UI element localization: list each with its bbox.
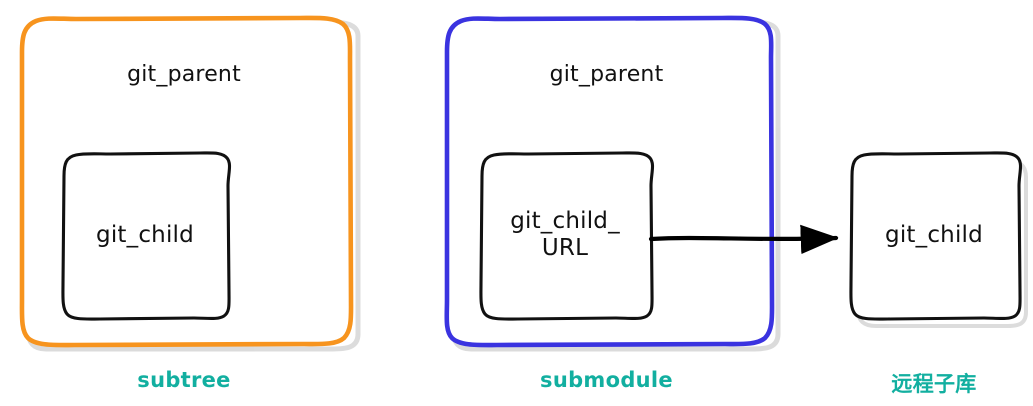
remote-child-label: git_child — [850, 222, 1018, 249]
diagram-canvas: git_parent git_child subtree git_parent … — [0, 0, 1033, 406]
submodule-caption: submodule — [443, 368, 770, 392]
submodule-parent-label: git_parent — [443, 62, 770, 88]
subtree-child-label: git_child — [62, 222, 228, 249]
subtree-parent-label: git_parent — [18, 62, 350, 88]
remote-caption: 远程子库 — [850, 368, 1018, 398]
diagram-svg — [0, 0, 1033, 406]
subtree-caption: subtree — [18, 368, 350, 392]
submodule-child-label: git_child_ URL — [480, 208, 650, 262]
submodule-to-remote-arrow — [651, 238, 836, 239]
